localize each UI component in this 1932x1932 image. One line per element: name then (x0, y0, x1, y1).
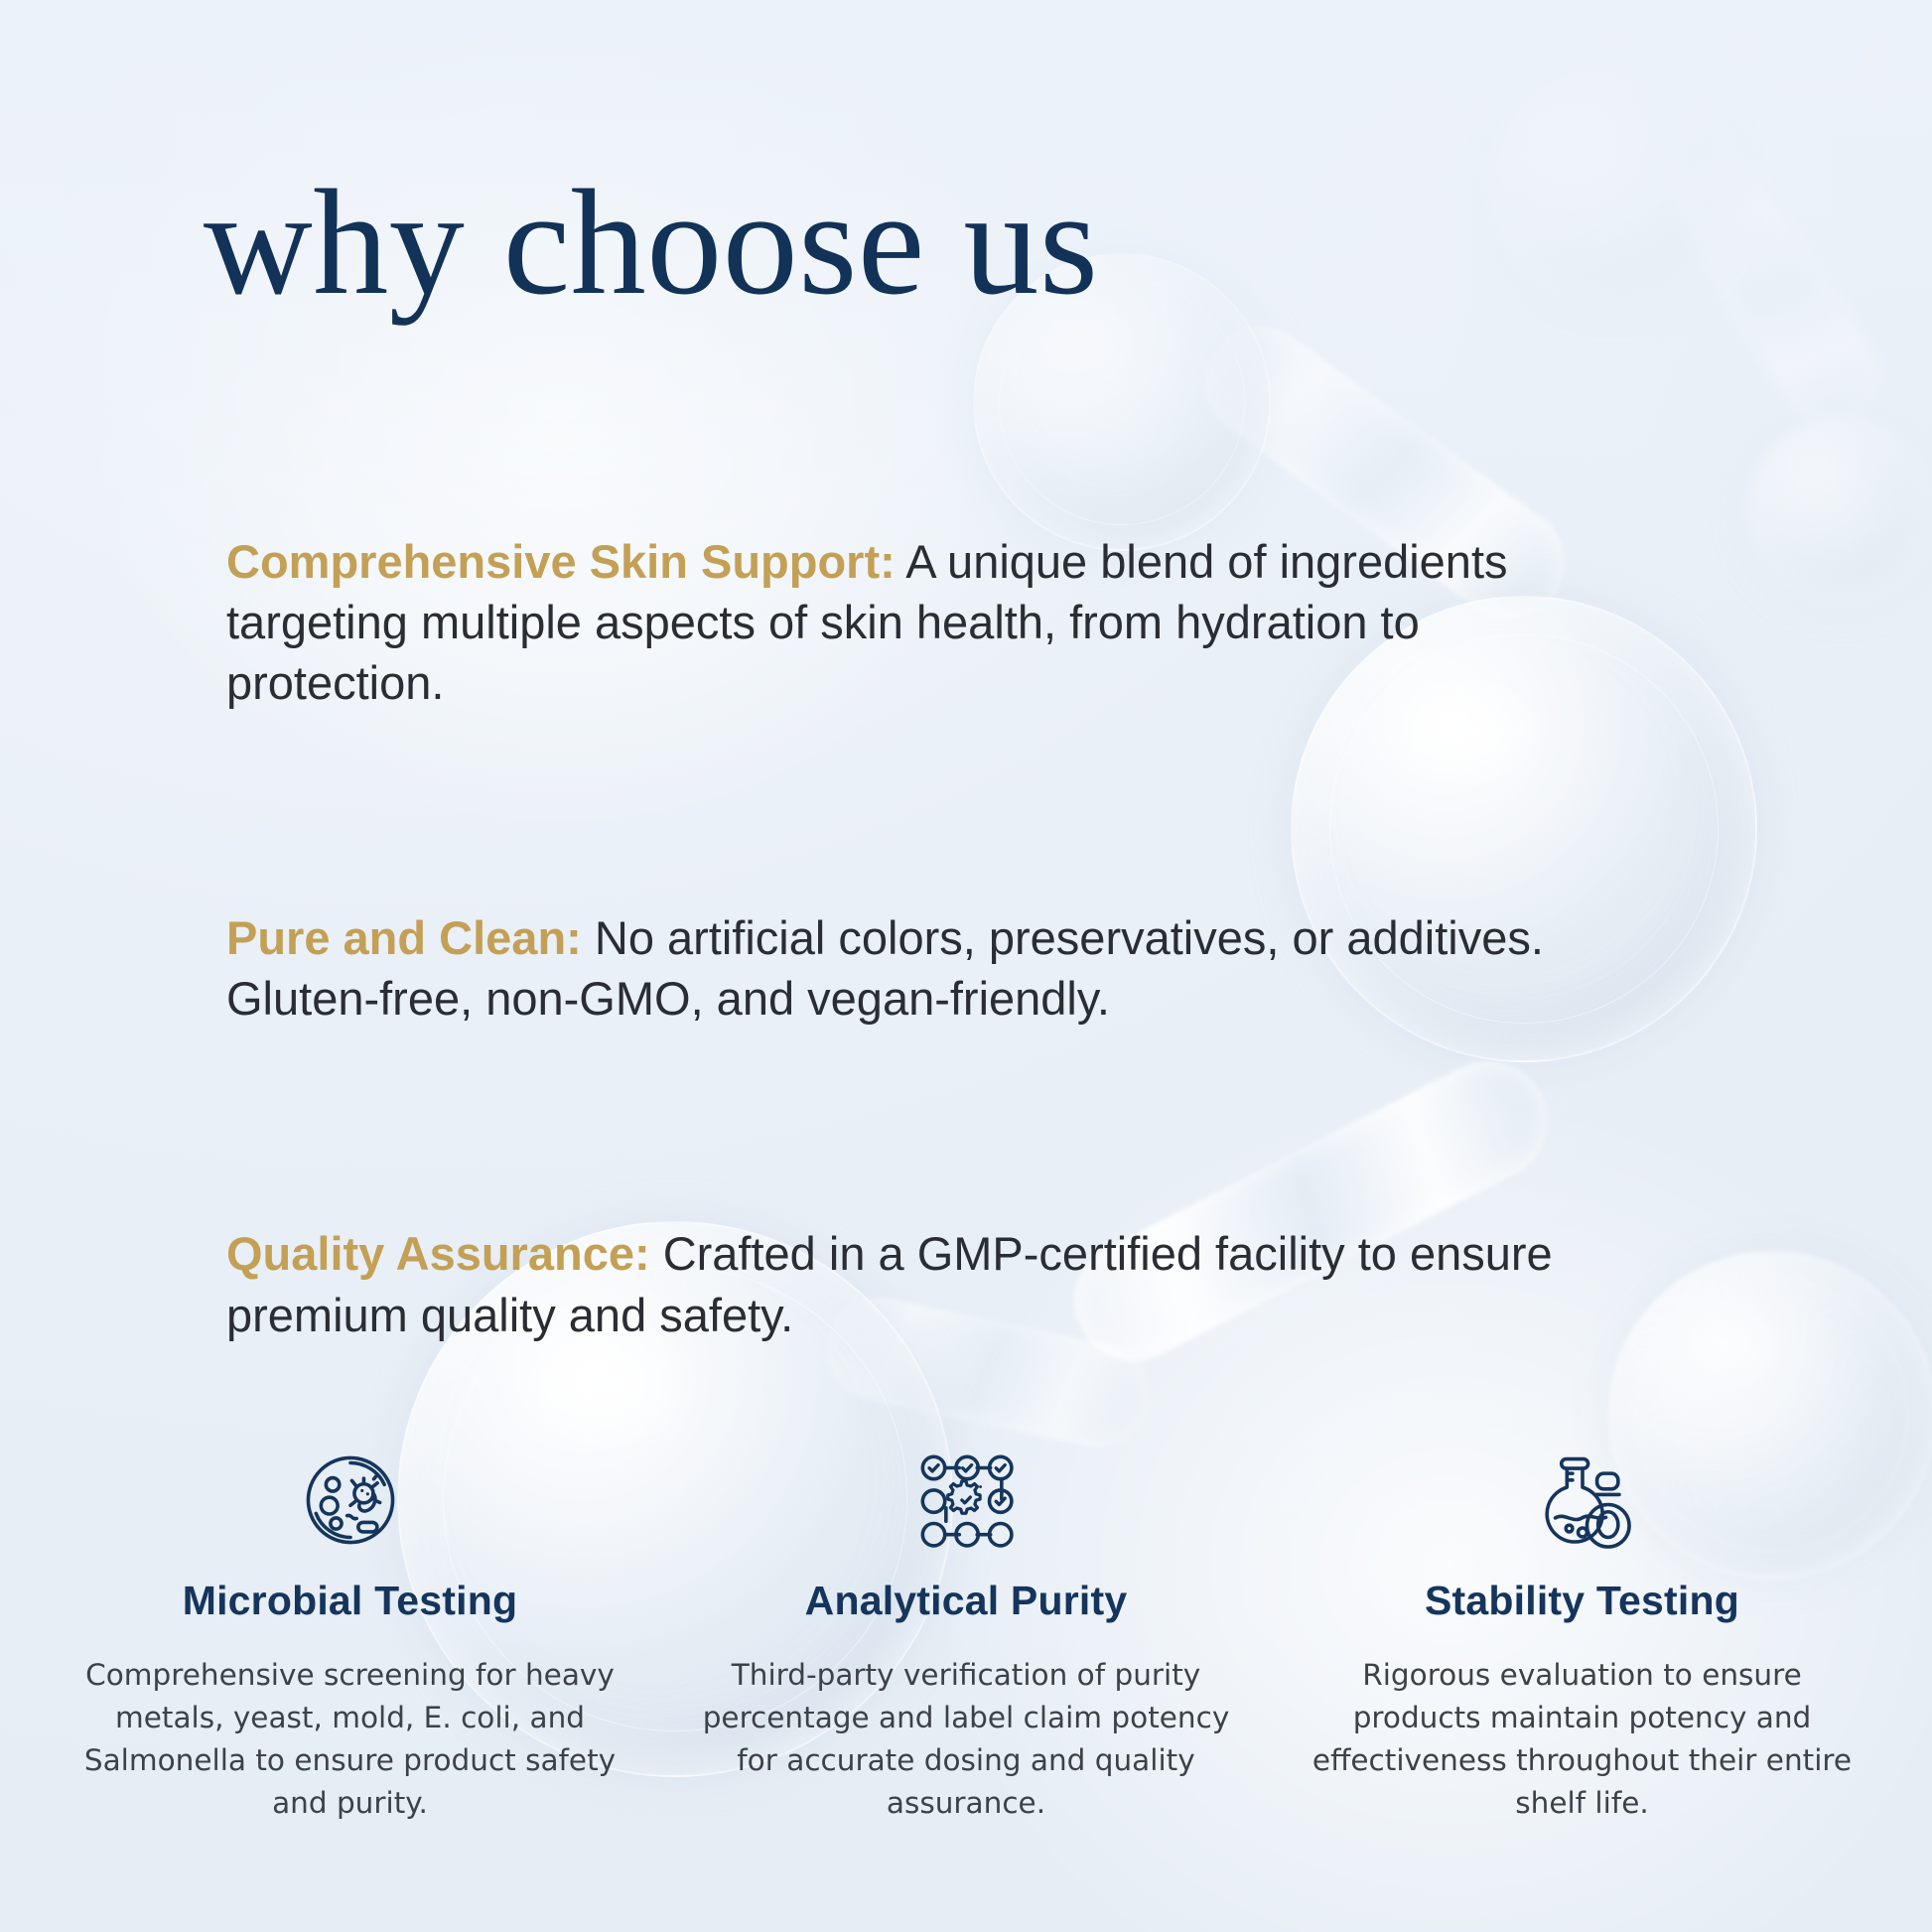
benefit-lead: Quality Assurance: (226, 1227, 650, 1280)
card-title: Analytical Purity (805, 1578, 1128, 1624)
card-title: Stability Testing (1425, 1578, 1739, 1624)
benefits-list: Comprehensive Skin Support: A unique ble… (226, 531, 1636, 1345)
benefit-item: Quality Assurance: Crafted in a GMP-cert… (226, 1223, 1636, 1344)
flask-petri-dish-icon (1527, 1445, 1638, 1556)
quality-network-gear-icon (910, 1445, 1022, 1556)
card-stability-testing: Stability Testing Rigorous evaluation to… (1292, 1445, 1872, 1825)
card-description: Comprehensive screening for heavy metals… (72, 1654, 628, 1825)
card-analytical-purity: Analytical Purity Third-party verificati… (676, 1445, 1257, 1825)
page-title: why choose us (204, 167, 1099, 318)
testing-cards-row: Microbial Testing Comprehensive screenin… (60, 1445, 1872, 1825)
benefit-lead: Comprehensive Skin Support: (226, 535, 896, 588)
card-microbial-testing: Microbial Testing Comprehensive screenin… (60, 1445, 640, 1825)
card-title: Microbial Testing (183, 1578, 518, 1624)
page-content: why choose us Comprehensive Skin Support… (0, 0, 1932, 1932)
petri-dish-bacteria-icon (295, 1445, 406, 1556)
benefit-lead: Pure and Clean: (226, 911, 582, 964)
benefit-item: Comprehensive Skin Support: A unique ble… (226, 531, 1636, 713)
benefit-item: Pure and Clean: No artificial colors, pr… (226, 907, 1636, 1029)
card-description: Rigorous evaluation to ensure products m… (1305, 1654, 1861, 1825)
card-description: Third-party verification of purity perce… (688, 1654, 1244, 1825)
